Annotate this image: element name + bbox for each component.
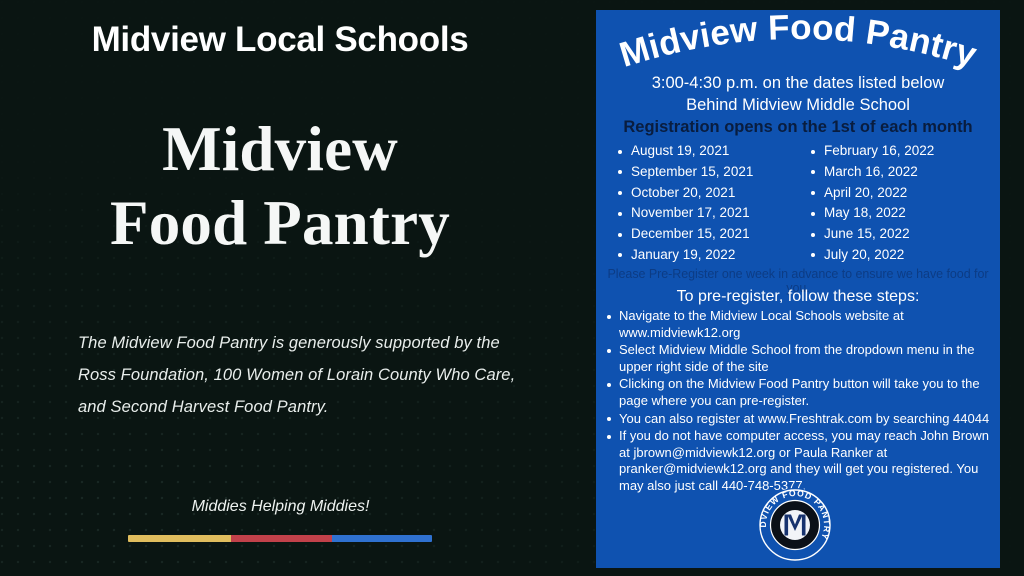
support-paragraph: The Midview Food Pantry is generously su… [78, 327, 518, 424]
flyer-arched-title-text: Midview Food Pantry [615, 12, 981, 74]
pantry-logo-icon: MIDVIEW FOOD PANTRY [757, 487, 833, 563]
accent-segment-blue [332, 535, 432, 542]
list-item: May 18, 2022 [807, 203, 986, 224]
list-item: December 15, 2021 [614, 224, 793, 245]
list-item: You can also register at www.Freshtrak.c… [603, 411, 997, 428]
list-item: January 19, 2022 [614, 245, 793, 266]
left-content-column: Midview Local Schools Midview Food Pantr… [0, 0, 580, 576]
slide-canvas: Midview Local Schools Midview Food Pantr… [0, 0, 1024, 576]
page-title-line-2: Food Pantry [0, 186, 560, 260]
flyer-time-line: 3:00-4:30 p.m. on the dates listed below [606, 72, 990, 94]
steps-heading: To pre-register, follow these steps: [606, 288, 990, 306]
accent-segment-gold [128, 535, 231, 542]
list-item: February 16, 2022 [807, 141, 986, 162]
pantry-dates-list: August 19, 2021 September 15, 2021 Octob… [614, 141, 986, 266]
svg-text:Midview Food Pantry: Midview Food Pantry [615, 12, 981, 74]
page-title: Midview Food Pantry [0, 112, 560, 261]
accent-segment-red [231, 535, 331, 542]
list-item: Navigate to the Midview Local Schools we… [603, 308, 997, 341]
page-title-line-1: Midview [0, 112, 560, 186]
pantry-dates-column-left: August 19, 2021 September 15, 2021 Octob… [614, 141, 793, 266]
flyer-registration-line: Registration opens on the 1st of each mo… [606, 118, 990, 137]
tagline: Middies Helping Middies! [128, 498, 433, 516]
list-item: April 20, 2022 [807, 183, 986, 204]
list-item: August 19, 2021 [614, 141, 793, 162]
food-pantry-flyer: Midview Food Pantry 3:00-4:30 p.m. on th… [596, 10, 1000, 568]
list-item: November 17, 2021 [614, 203, 793, 224]
list-item: July 20, 2022 [807, 245, 986, 266]
pantry-dates-column-right: February 16, 2022 March 16, 2022 April 2… [807, 141, 986, 266]
district-name: Midview Local Schools [0, 22, 560, 59]
accent-divider-bar [128, 535, 432, 542]
list-item: If you do not have computer access, you … [603, 428, 997, 494]
list-item: June 15, 2022 [807, 224, 986, 245]
flyer-location-line: Behind Midview Middle School [606, 94, 990, 116]
list-item: March 16, 2022 [807, 162, 986, 183]
list-item: September 15, 2021 [614, 162, 793, 183]
list-item: Select Midview Middle School from the dr… [603, 342, 997, 375]
flyer-arched-title: Midview Food Pantry [596, 12, 1000, 74]
list-item: Clicking on the Midview Food Pantry butt… [603, 376, 997, 409]
pre-register-steps-list: Navigate to the Midview Local Schools we… [603, 308, 997, 496]
list-item: October 20, 2021 [614, 183, 793, 204]
